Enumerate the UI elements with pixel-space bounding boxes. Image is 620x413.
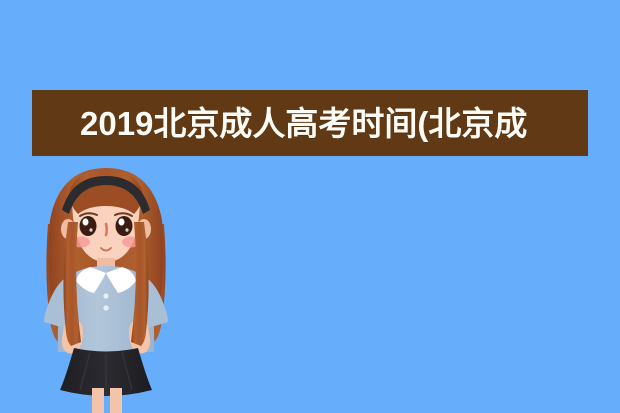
skirt — [60, 348, 152, 396]
poster-canvas: 2019北京成人高考时间(北京成 — [0, 0, 620, 413]
page-title: 2019北京成人高考时间(北京成 — [32, 107, 527, 140]
schoolgirl-illustration — [28, 162, 184, 413]
title-banner: 2019北京成人高考时间(北京成 — [32, 90, 588, 156]
schoolgirl-svg — [28, 162, 184, 413]
